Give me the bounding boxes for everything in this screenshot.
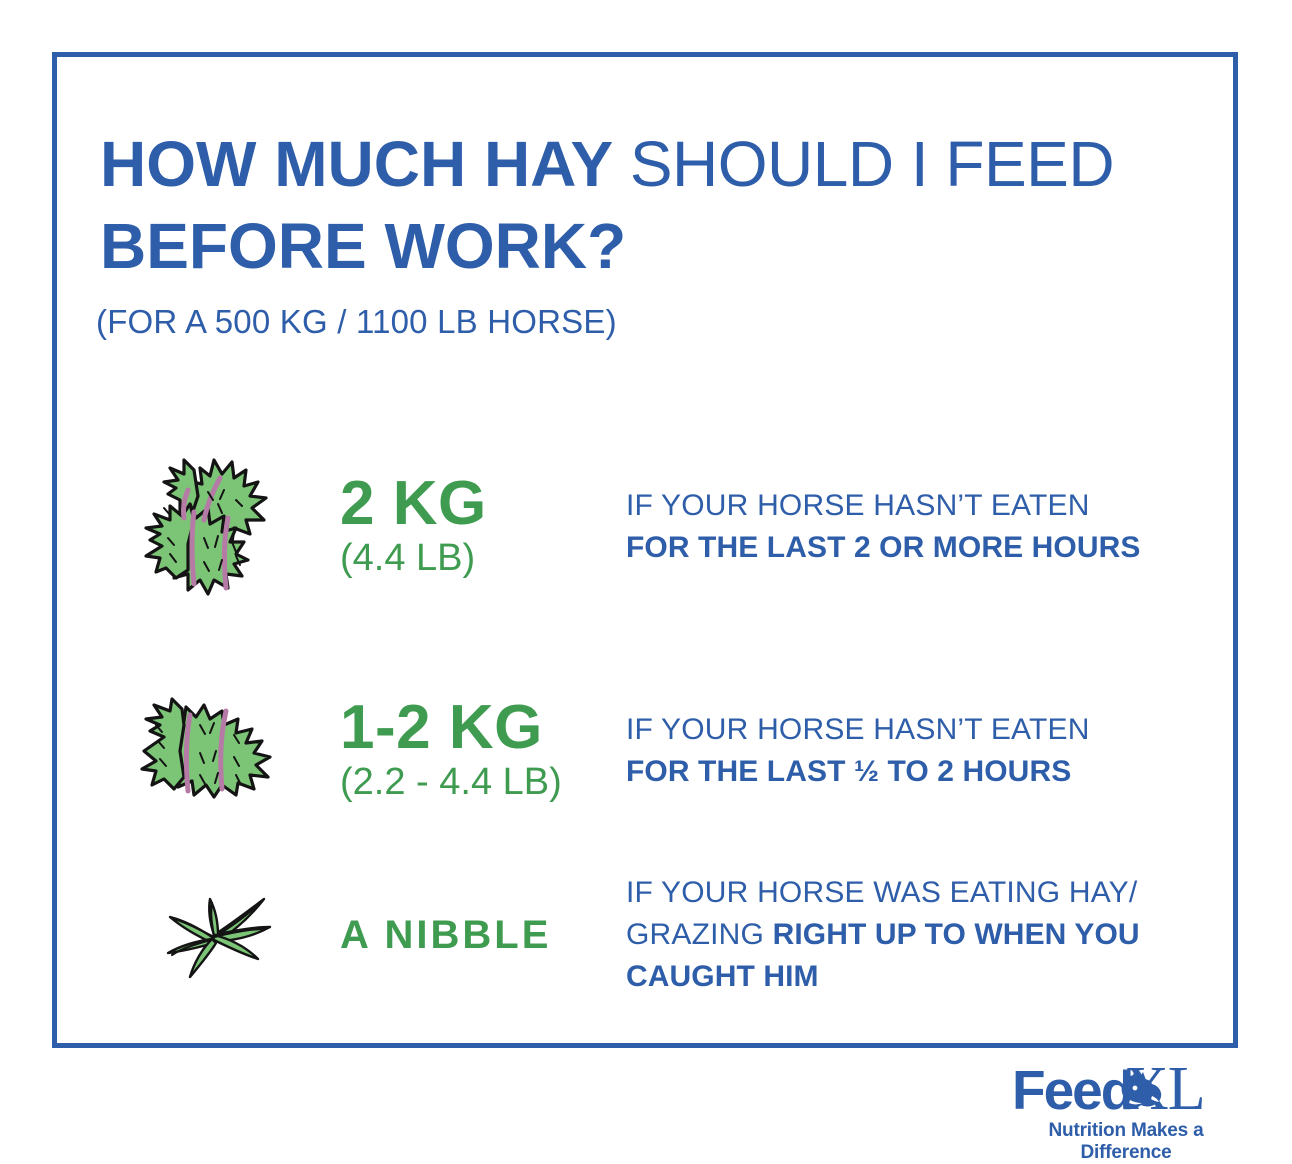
condition-line: IF YOUR HORSE HASN’T EATEN <box>626 485 1206 527</box>
condition-line-bold: FOR THE LAST ½ TO 2 HOURS <box>626 751 1206 793</box>
condition-line-bold-2: CAUGHT HIM <box>626 956 1206 998</box>
amount-block: A NIBBLE <box>336 913 626 957</box>
condition-description: IF YOUR HORSE HASN’T EATEN FOR THE LAST … <box>626 709 1206 793</box>
amount-secondary: (4.4 LB) <box>340 535 626 581</box>
amount-secondary: (2.2 - 4.4 LB) <box>340 759 626 805</box>
condition-line-regular: GRAZING <box>626 918 773 951</box>
amount-primary: A NIBBLE <box>340 913 626 957</box>
infographic-poster: HOW MUCH HAY SHOULD I FEED BEFORE WORK? … <box>0 0 1292 1152</box>
recommendation-row: 2 KG (4.4 LB) IF YOUR HORSE HASN’T EATEN… <box>96 432 1206 622</box>
title-segment-bold-2: BEFORE WORK? <box>100 210 626 282</box>
condition-line-mixed: GRAZING RIGHT UP TO WHEN YOU <box>626 914 1206 956</box>
logo-mark: Feed XL <box>1012 1064 1240 1116</box>
condition-description: IF YOUR HORSE HASN’T EATEN FOR THE LAST … <box>626 485 1206 569</box>
page-title: HOW MUCH HAY SHOULD I FEED BEFORE WORK? <box>100 123 1170 287</box>
hay-bales-stacked-icon <box>96 438 336 616</box>
recommendation-row: 1-2 KG (2.2 - 4.4 LB) IF YOUR HORSE HASN… <box>96 676 1206 826</box>
horse-head-icon <box>1116 1072 1170 1114</box>
hay-bale-single-icon <box>96 695 336 807</box>
title-segment-regular: SHOULD I FEED <box>630 128 1132 200</box>
title-segment-bold-1: HOW MUCH HAY <box>100 128 630 200</box>
logo-tagline: Nutrition Makes a Difference <box>1012 1120 1240 1164</box>
feedxl-logo: Feed XL Nutrition Makes a Difference <box>1012 1064 1240 1142</box>
condition-line: IF YOUR HORSE HASN’T EATEN <box>626 709 1206 751</box>
amount-primary: 1-2 KG <box>340 697 626 759</box>
condition-line: IF YOUR HORSE WAS EATING HAY/ <box>626 872 1206 914</box>
amount-primary: 2 KG <box>340 473 626 535</box>
condition-description: IF YOUR HORSE WAS EATING HAY/ GRAZING RI… <box>626 872 1206 998</box>
condition-line-bold: RIGHT UP TO WHEN YOU <box>773 918 1140 951</box>
condition-line-bold: FOR THE LAST 2 OR MORE HOURS <box>626 527 1206 569</box>
grass-wisp-icon <box>96 885 336 985</box>
page-subtitle: (FOR A 500 KG / 1100 LB HORSE) <box>96 303 617 341</box>
amount-block: 1-2 KG (2.2 - 4.4 LB) <box>336 697 626 805</box>
recommendation-row: A NIBBLE IF YOUR HORSE WAS EATING HAY/ G… <box>96 860 1206 1010</box>
amount-block: 2 KG (4.4 LB) <box>336 473 626 581</box>
logo-wordmark-feed: Feed <box>1012 1064 1132 1116</box>
